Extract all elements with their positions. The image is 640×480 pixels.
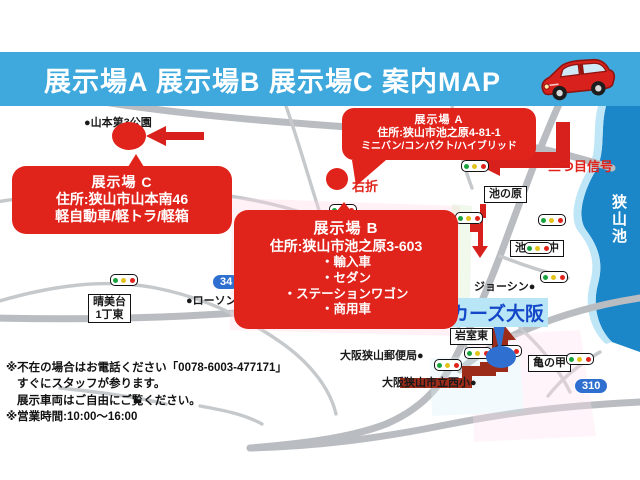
label-iwamuro-higashi: 岩室東 [450, 328, 493, 345]
traffic-light-icon [566, 353, 594, 365]
traffic-light-icon [455, 212, 483, 224]
balloon-b-item-1: ・セダン [238, 271, 454, 287]
marker-cars-osaka [486, 346, 516, 368]
page-title: 展示場A 展示場B 展示場C 案内MAP [44, 60, 501, 99]
footnotes: ※不在の場合はお電話ください「0078-6003-477171」 すぐにスタッフ… [6, 360, 287, 425]
balloon-a-categories: ミニバン/コンパクト/ハイブリッド [346, 141, 532, 153]
label-post-office: 大阪狭山郵便局● [340, 347, 424, 363]
balloon-b-item-3: ・商用車 [238, 302, 454, 318]
traffic-light-icon [538, 214, 566, 226]
traffic-light-icon [110, 274, 138, 286]
label-harumidai: 晴美台 1丁東 [88, 294, 131, 323]
traffic-light-icon [540, 271, 568, 283]
balloon-exhibit-b[interactable]: 展示場 B 住所:狭山市池之原3-603 ・輸入車 ・セダン ・ステーションワゴ… [234, 210, 458, 329]
label-sayama-lake: 狭山池 [608, 194, 629, 245]
traffic-light-icon [461, 160, 489, 172]
balloon-b-item-2: ・ステーションワゴン [238, 287, 454, 303]
traffic-light-icon [434, 359, 462, 371]
marker-exhibit-c [112, 122, 146, 150]
label-nishi-elementary: 大阪狭山市立西小● [382, 374, 477, 390]
balloon-c-name: 展示場 C [16, 174, 228, 191]
footnote-line-4: ※営業時間:10:00〜16:00 [6, 409, 287, 425]
label-harumidai-line1: 晴美台 [93, 296, 126, 308]
marker-exhibit-a [326, 168, 348, 190]
guide-map-page: 展示場A 展示場B 展示場C 案内MAP [0, 0, 640, 480]
footnote-line-2: すぐにスタッフが参ります。 [6, 376, 287, 392]
label-mittsume-shingo: 三つ目信号 [548, 156, 613, 175]
footnote-line-3: 展示車両はご自由にご覧ください。 [6, 393, 287, 409]
balloon-a-tail [352, 160, 386, 186]
footnote-line-1: ※不在の場合はお電話ください「0078-6003-477171」 [6, 360, 287, 376]
label-harumidai-line2: 1丁東 [95, 309, 123, 321]
balloon-b-item-0: ・輸入車 [238, 255, 454, 271]
label-cars-osaka[interactable]: カーズ大阪 [446, 298, 548, 327]
balloon-b-address: 住所:狭山市池之原3-603 [238, 238, 454, 255]
balloon-a-address: 住所:狭山市池之原4-81-1 [346, 127, 532, 140]
header-banner: 展示場A 展示場B 展示場C 案内MAP [0, 52, 640, 106]
route-shield-310: 310 [574, 378, 608, 394]
label-joshin: ジョーシン● [474, 278, 535, 294]
label-lawson: ●ローソン [186, 292, 237, 308]
balloon-b-name: 展示場 B [238, 220, 454, 238]
label-ikenohara: 池の原 [484, 186, 527, 203]
balloon-exhibit-a[interactable]: 展示場 A 住所:狭山市池之原4-81-1 ミニバン/コンパクト/ハイブリッド [342, 108, 536, 160]
balloon-c-categories: 軽自動車/軽トラ/軽箱 [16, 208, 228, 225]
traffic-light-icon [524, 242, 552, 254]
balloon-a-name: 展示場 A [346, 114, 532, 127]
red-car-icon [534, 56, 618, 102]
label-kame-no-ko: 亀の甲 [528, 355, 571, 372]
balloon-c-address: 住所:狭山市山本南46 [16, 191, 228, 208]
balloon-exhibit-c[interactable]: 展示場 C 住所:狭山市山本南46 軽自動車/軽トラ/軽箱 [12, 166, 232, 234]
